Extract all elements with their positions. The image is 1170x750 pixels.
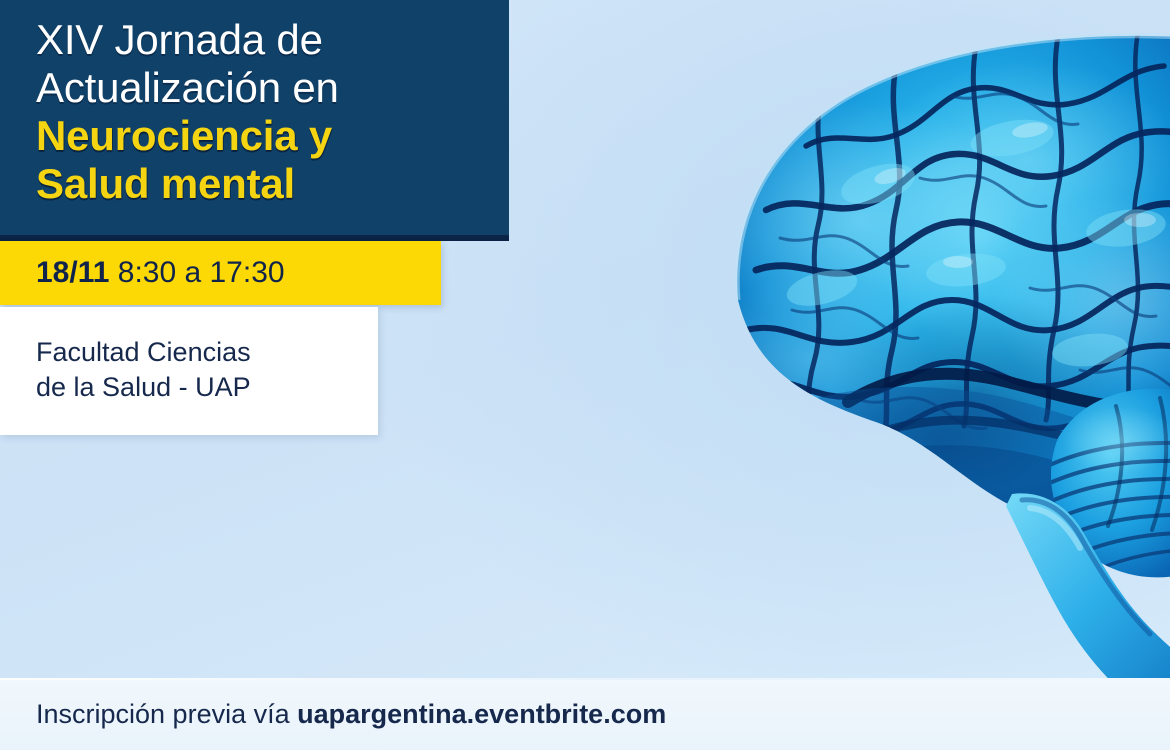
- brain-illustration: [560, 0, 1170, 690]
- registration-line: Inscripción previa vía uapargentina.even…: [36, 697, 666, 731]
- date-time-text: 18/11 8:30 a 17:30: [36, 255, 285, 291]
- venue-line-1: Facultad Ciencias: [36, 335, 251, 370]
- registration-prefix: Inscripción previa vía: [36, 699, 297, 729]
- title-line-3: Neurociencia y: [36, 112, 476, 160]
- registration-url[interactable]: uapargentina.eventbrite.com: [297, 699, 666, 729]
- title-line-1: XIV Jornada de: [36, 16, 476, 64]
- title-line-4: Salud mental: [36, 160, 476, 208]
- event-poster: XIV Jornada de Actualización en Neurocie…: [0, 0, 1170, 750]
- title-panel: XIV Jornada de Actualización en Neurocie…: [0, 0, 509, 239]
- venue-name: Facultad Ciencias de la Salud - UAP: [36, 335, 251, 405]
- event-title: XIV Jornada de Actualización en Neurocie…: [36, 16, 476, 208]
- event-date: 18/11: [36, 256, 109, 289]
- venue-card: Facultad Ciencias de la Salud - UAP: [0, 307, 378, 435]
- venue-line-2: de la Salud - UAP: [36, 370, 251, 405]
- event-time: 8:30 a 17:30: [109, 256, 284, 289]
- title-line-2: Actualización en: [36, 64, 476, 112]
- date-time-strip: 18/11 8:30 a 17:30: [0, 241, 441, 305]
